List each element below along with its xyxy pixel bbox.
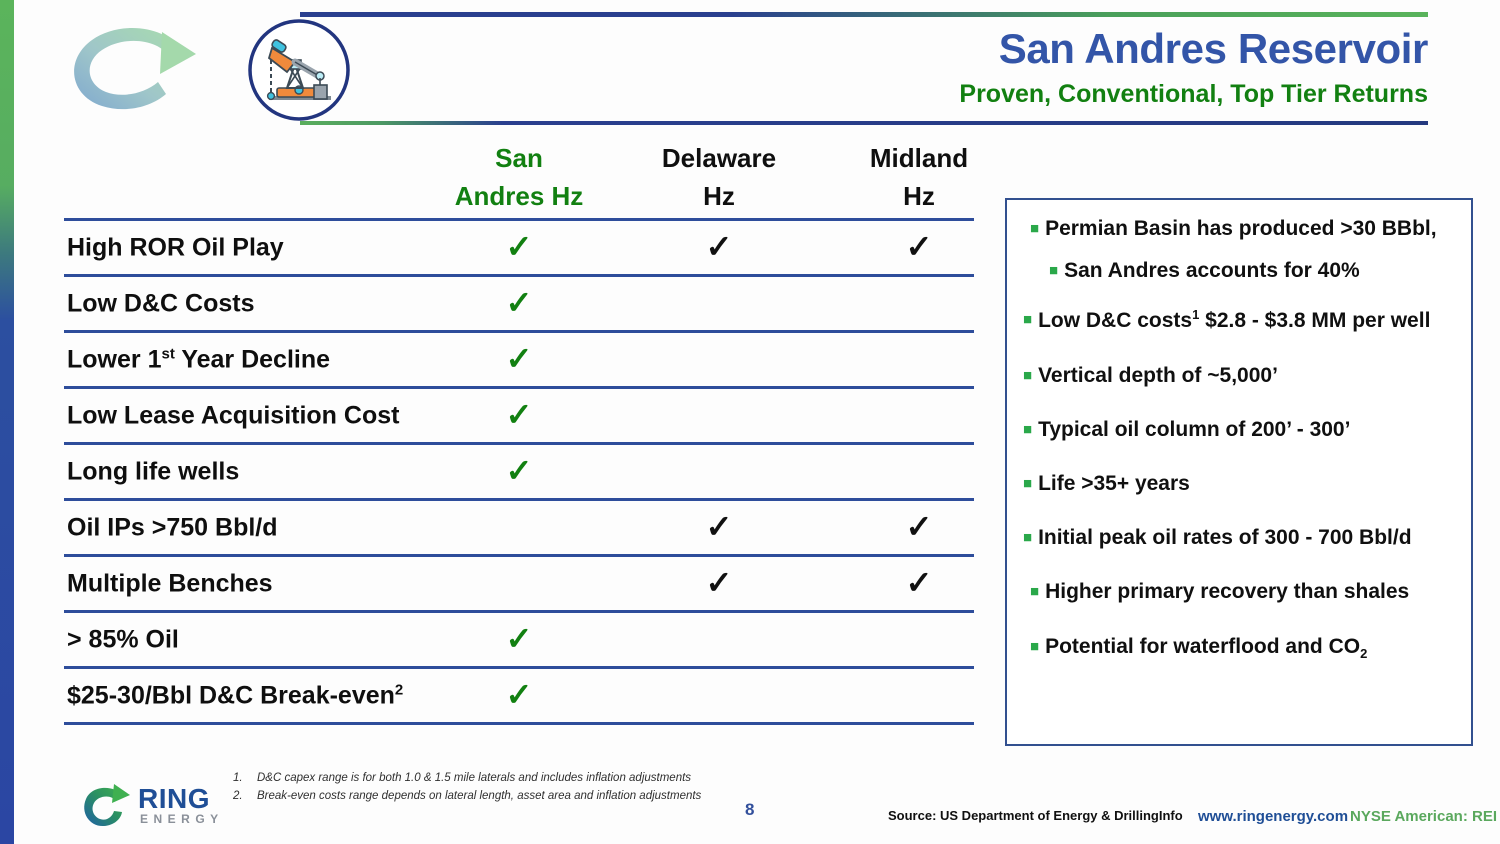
check-mark-icon: ✓	[429, 454, 609, 486]
bullet-text: Potential for waterflood and CO2	[1045, 634, 1367, 662]
square-bullet-icon: ■	[1023, 422, 1032, 437]
source-credit: Source: US Department of Energy & Drilli…	[888, 808, 1183, 823]
bullet-text: Life >35+ years	[1038, 471, 1190, 496]
column-header-midland: Midland Hz	[829, 140, 1009, 215]
square-bullet-icon: ■	[1023, 312, 1032, 327]
square-bullet-icon: ■	[1030, 639, 1039, 654]
check-mark-icon: ✓	[629, 510, 809, 542]
column-header-san-andres: San Andres Hz	[429, 140, 609, 215]
square-bullet-icon: ■	[1023, 476, 1032, 491]
footnotes: 1.D&C capex range is for both 1.0 & 1.5 …	[233, 770, 701, 806]
table-row: Long life wells✓✓✓	[64, 445, 974, 498]
footnote-text: Break-even costs range depends on latera…	[257, 788, 701, 806]
footnote: 1.D&C capex range is for both 1.0 & 1.5 …	[233, 770, 701, 788]
table-row: Low D&C Costs✓✓✓	[64, 277, 974, 330]
page-number: 8	[745, 800, 754, 820]
page-subtitle: Proven, Conventional, Top Tier Returns	[959, 80, 1428, 109]
table-row: $25-30/Bbl D&C Break-even2✓✓✓	[64, 669, 974, 722]
slide-header: San Andres Reservoir Proven, Conventiona…	[0, 0, 1500, 140]
table-rule	[64, 722, 974, 725]
check-mark-icon: ✓	[429, 342, 609, 374]
table-row: Low Lease Acquisition Cost✓✓✓	[64, 389, 974, 442]
row-label: $25-30/Bbl D&C Break-even2	[67, 681, 403, 710]
bullet-item: ■San Andres accounts for 40%	[1049, 258, 1459, 283]
square-bullet-icon: ■	[1023, 530, 1032, 545]
check-mark-icon: ✓	[429, 678, 609, 710]
brand-subtitle: ENERGY	[140, 812, 224, 826]
row-label: Low Lease Acquisition Cost	[67, 401, 399, 430]
bullet-text: Vertical depth of ~5,000’	[1038, 363, 1278, 388]
page-title: San Andres Reservoir	[999, 25, 1428, 73]
table-row: Oil IPs >750 Bbl/d✓✓✓	[64, 501, 974, 554]
column-header-line1: Midland	[829, 140, 1009, 178]
column-header-line2: Andres Hz	[429, 178, 609, 216]
table-row: Lower 1st Year Decline✓✓✓	[64, 333, 974, 386]
square-bullet-icon: ■	[1023, 368, 1032, 383]
bullet-item: ■Permian Basin has produced >30 BBbl,	[1023, 216, 1459, 241]
bullet-item: ■Initial peak oil rates of 300 - 700 Bbl…	[1023, 525, 1459, 550]
row-label: Long life wells	[67, 457, 239, 486]
square-bullet-icon: ■	[1049, 263, 1058, 278]
row-label: > 85% Oil	[67, 625, 179, 654]
table-row: Multiple Benches✓✓✓	[64, 557, 974, 610]
bullet-text: Higher primary recovery than shales	[1045, 579, 1409, 604]
check-mark-icon: ✓	[829, 230, 1009, 262]
header-bottom-rule	[300, 121, 1428, 125]
row-label: Oil IPs >750 Bbl/d	[67, 513, 278, 542]
column-header-line2: Hz	[629, 178, 809, 216]
footnote-text: D&C capex range is for both 1.0 & 1.5 mi…	[257, 770, 691, 788]
check-mark-icon: ✓	[829, 510, 1009, 542]
table-row: > 85% Oil✓✓✓	[64, 613, 974, 666]
bullet-item: ■Life >35+ years	[1023, 471, 1459, 496]
bullet-item: ■Vertical depth of ~5,000’	[1023, 363, 1459, 388]
check-mark-icon: ✓	[829, 566, 1009, 598]
bullet-item: ■Typical oil column of 200’ - 300’	[1023, 417, 1459, 442]
row-label: Low D&C Costs	[67, 289, 255, 318]
column-header-line1: Delaware	[629, 140, 809, 178]
check-mark-icon: ✓	[429, 622, 609, 654]
column-header-line2: Hz	[829, 178, 1009, 216]
column-header-delaware: Delaware Hz	[629, 140, 809, 215]
bullet-text: San Andres accounts for 40%	[1064, 258, 1360, 283]
bullet-item: ■Low D&C costs1 $2.8 - $3.8 MM per well	[1023, 307, 1459, 333]
highlights-box: ■Permian Basin has produced >30 BBbl,■Sa…	[1005, 198, 1473, 746]
table-body: High ROR Oil Play✓✓✓Low D&C Costs✓✓✓Lowe…	[64, 218, 974, 725]
bullet-text: Typical oil column of 200’ - 300’	[1038, 417, 1350, 442]
circular-arrow-logo-icon	[62, 18, 202, 118]
stock-ticker: NYSE American: REI	[1350, 808, 1497, 825]
check-mark-icon: ✓	[629, 230, 809, 262]
bullet-text: Initial peak oil rates of 300 - 700 Bbl/…	[1038, 525, 1411, 550]
row-label: Lower 1st Year Decline	[67, 345, 330, 374]
column-header-line1: San	[429, 140, 609, 178]
footnote: 2.Break-even costs range depends on late…	[233, 788, 701, 806]
check-mark-icon: ✓	[429, 286, 609, 318]
bullet-text: Low D&C costs1 $2.8 - $3.8 MM per well	[1038, 307, 1430, 333]
check-mark-icon: ✓	[429, 230, 609, 262]
row-label: Multiple Benches	[67, 569, 273, 598]
bullet-item: ■Potential for waterflood and CO2	[1023, 634, 1459, 662]
table-row: High ROR Oil Play✓✓✓	[64, 221, 974, 274]
square-bullet-icon: ■	[1030, 584, 1039, 599]
row-label: High ROR Oil Play	[67, 233, 284, 262]
check-mark-icon: ✓	[629, 566, 809, 598]
header-top-rule	[300, 12, 1428, 17]
square-bullet-icon: ■	[1030, 221, 1039, 236]
brand-name: RING	[138, 783, 210, 815]
check-mark-icon: ✓	[429, 398, 609, 430]
footnote-number: 1.	[233, 770, 257, 788]
website-link[interactable]: www.ringenergy.com	[1198, 808, 1348, 825]
pump-jack-icon	[247, 18, 351, 122]
footnote-number: 2.	[233, 788, 257, 806]
bullet-text: Permian Basin has produced >30 BBbl,	[1045, 216, 1437, 241]
bullet-item: ■Higher primary recovery than shales	[1023, 579, 1459, 604]
